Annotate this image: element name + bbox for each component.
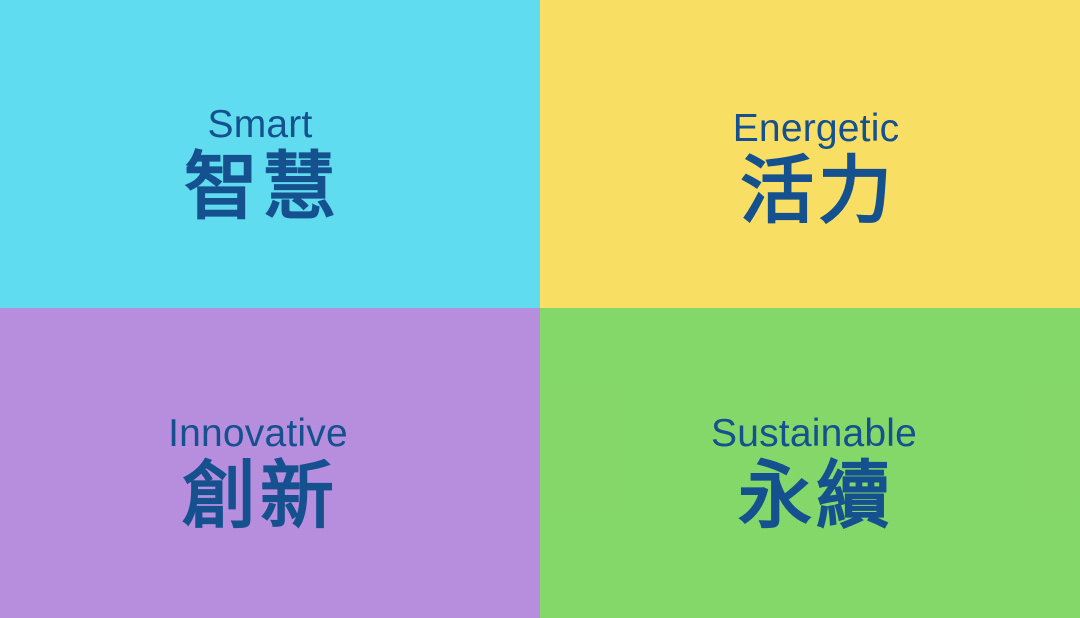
- quadrant-energetic-content: Energetic 活力: [733, 109, 900, 228]
- quadrant-smart-label-en: Smart: [207, 105, 312, 144]
- quadrant-smart-content: Smart 智慧: [180, 105, 340, 224]
- quadrant-energetic[interactable]: Energetic 活力: [540, 0, 1080, 308]
- quadrant-innovative-content: Innovative 創新: [168, 414, 348, 533]
- quadrant-energetic-label-cjk: 活力: [736, 154, 896, 228]
- quadrant-innovative[interactable]: Innovative 創新: [0, 308, 540, 618]
- quadrant-sustainable[interactable]: Sustainable 永續: [540, 308, 1080, 618]
- brand-values-grid: Smart 智慧 Energetic 活力 Innovative 創新 Sust…: [0, 0, 1080, 618]
- quadrant-smart-label-cjk: 智慧: [180, 150, 340, 224]
- quadrant-innovative-label-cjk: 創新: [178, 459, 338, 533]
- quadrant-sustainable-content: Sustainable 永續: [711, 414, 917, 533]
- quadrant-energetic-label-en: Energetic: [733, 109, 900, 148]
- quadrant-sustainable-label-en: Sustainable: [711, 414, 917, 453]
- quadrant-innovative-label-en: Innovative: [168, 414, 348, 453]
- quadrant-smart[interactable]: Smart 智慧: [0, 0, 540, 308]
- quadrant-sustainable-label-cjk: 永續: [734, 459, 894, 533]
